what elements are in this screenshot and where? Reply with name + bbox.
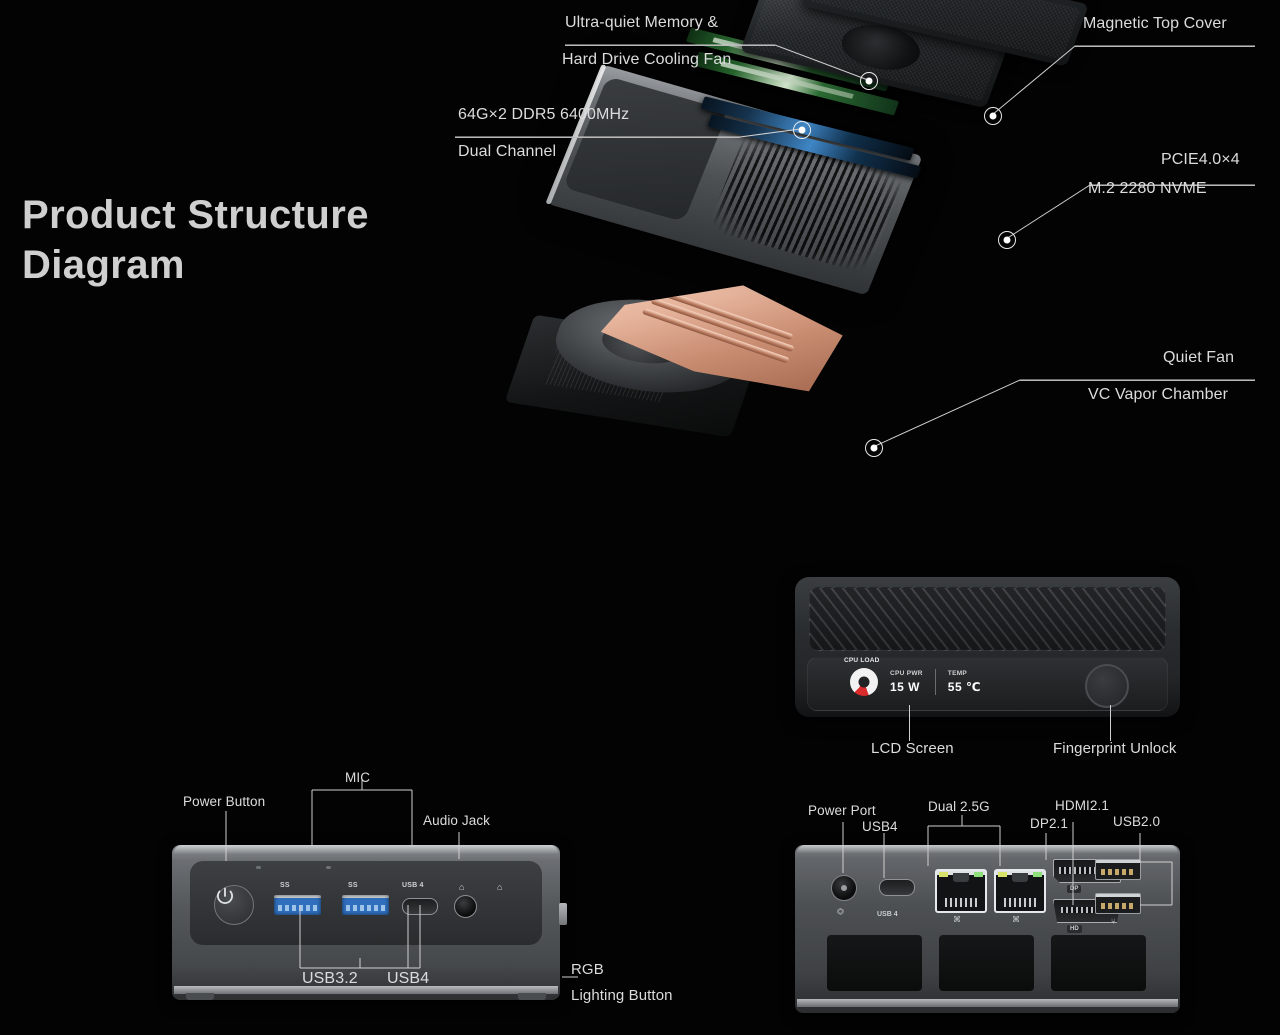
rear-vent-center: [939, 935, 1034, 991]
audio-jack-icon: ⌂: [459, 882, 465, 892]
top-unit-textured-lid: [809, 587, 1166, 651]
usb2-port-bottom[interactable]: [1095, 893, 1141, 914]
front-panel-base: [174, 986, 558, 994]
callout-label-usb32: USB3.2: [302, 970, 358, 988]
callout-label-memory-line1: 64G×2 DDR5 6400MHz: [458, 106, 629, 124]
exploded-diagram-illustration: [500, 0, 1120, 500]
power-port[interactable]: [831, 875, 857, 901]
rear-vent-right: [1051, 935, 1146, 991]
callout-label-dual-lan: Dual 2.5G: [928, 799, 990, 814]
usb32-left-mark: SS: [280, 882, 290, 889]
callout-label-storage-line1: PCIE4.0×4: [1161, 151, 1240, 169]
ethernet-port-left[interactable]: [935, 869, 987, 913]
callout-label-top-cover: Magnetic Top Cover: [1083, 15, 1227, 33]
cpu-load-label: CPU LOAD: [844, 657, 880, 664]
mic-hole-right: [326, 866, 331, 869]
cpu-power-label: CPU PWR: [890, 670, 923, 677]
callout-label-cooling-fan-line2: Hard Drive Cooling Fan: [562, 51, 731, 69]
fingerprint-reader[interactable]: [1085, 664, 1129, 708]
callout-label-memory-line2: Dual Channel: [458, 143, 556, 161]
callout-label-usb20: USB2.0: [1113, 814, 1160, 829]
top-unit-display-strip: CPU LOAD CPU PWR 15 W TEMP 55 ℃: [807, 657, 1168, 711]
power-button[interactable]: [214, 885, 254, 925]
lcd-divider: [935, 669, 936, 695]
ethernet-port-right[interactable]: [994, 869, 1046, 913]
callout-rule-cooling: [1020, 380, 1255, 381]
callout-rule-memory: [455, 137, 740, 138]
headset-icon: ⌂: [497, 882, 503, 892]
callout-label-power-button: Power Button: [183, 794, 265, 809]
callout-label-audio-jack: Audio Jack: [423, 813, 490, 828]
top-view-unit: CPU LOAD CPU PWR 15 W TEMP 55 ℃: [795, 577, 1180, 717]
front-foot-right: [518, 993, 546, 1000]
usb32-port-right[interactable]: [342, 895, 389, 915]
page-title-line2: Diagram: [22, 240, 369, 290]
lcd-screen[interactable]: CPU LOAD CPU PWR 15 W TEMP 55 ℃: [850, 668, 981, 696]
usb2-icon: ⑂: [1111, 917, 1116, 926]
temperature-label: TEMP: [948, 670, 981, 677]
callout-label-dp: DP2.1: [1030, 816, 1068, 831]
mic-hole-left: [256, 866, 261, 869]
usb4-port-front[interactable]: [402, 898, 438, 915]
callout-label-mic: MIC: [345, 770, 370, 785]
front-panel-io-recess: SS SS USB 4 ⌂ ⌂: [190, 861, 542, 945]
callout-label-usb4-front: USB4: [387, 970, 429, 988]
temperature-value: 55 ℃: [948, 680, 981, 694]
callout-label-hdmi: HDMI2.1: [1055, 798, 1109, 813]
front-foot-left: [186, 993, 214, 1000]
callout-label-usb4-rear: USB4: [862, 819, 898, 834]
callout-label-cooling-line2: VC Vapor Chamber: [1088, 386, 1228, 404]
callout-line-lcd-screen: [909, 705, 910, 741]
front-panel-top-edge: [174, 845, 558, 854]
usb32-right-mark: SS: [348, 882, 358, 889]
callout-label-cooling-fan-line1: Ultra-quiet Memory &: [565, 14, 718, 32]
callout-label-lcd-screen: LCD Screen: [871, 740, 954, 757]
callout-dot-cooling-fan: [860, 72, 878, 90]
usb2-port-top[interactable]: [1095, 859, 1141, 880]
dp-port-mark: DP: [1067, 885, 1081, 893]
callout-dot-top-cover: [984, 107, 1002, 125]
callout-label-storage-line2: M.2 2280 NVME: [1088, 180, 1207, 198]
power-icon: [215, 886, 235, 906]
usb4-rear-mark: USB 4: [877, 911, 898, 918]
callout-label-power-port: Power Port: [808, 803, 876, 818]
temperature-stat: TEMP 55 ℃: [948, 670, 981, 694]
callout-label-rgb-line2: Lighting Button: [571, 987, 673, 1004]
ethernet-right-icon: ⌘: [1012, 915, 1020, 924]
ethernet-left-icon: ⌘: [953, 915, 961, 924]
cpu-power-value: 15 W: [890, 680, 923, 694]
rear-panel-unit: ⏣ USB 4 ⌘ ⌘ DP HD ⑂: [795, 845, 1180, 1013]
rgb-lighting-button[interactable]: [559, 903, 567, 925]
callout-rule-cooling-fan: [565, 45, 775, 46]
usb4-port-rear[interactable]: [879, 879, 915, 896]
audio-jack-port[interactable]: [454, 895, 477, 918]
callout-dot-memory: [793, 121, 811, 139]
page-title: Product Structure Diagram: [22, 190, 369, 290]
power-port-icon: ⏣: [837, 907, 844, 916]
rear-panel-top-edge: [797, 845, 1178, 853]
front-panel-unit: SS SS USB 4 ⌂ ⌂: [172, 845, 560, 1000]
hdmi-port-mark: HD: [1067, 925, 1082, 933]
cpu-load-gauge-icon: [850, 668, 878, 696]
rear-panel-base: [797, 999, 1178, 1007]
callout-dot-storage: [998, 231, 1016, 249]
callout-label-rgb-line1: RGB: [571, 961, 604, 978]
page-title-line1: Product Structure: [22, 190, 369, 240]
callout-dot-cooling: [865, 439, 883, 457]
cpu-power-stat: CPU PWR 15 W: [890, 670, 923, 694]
usb4-mark: USB 4: [402, 882, 424, 889]
callout-label-fingerprint: Fingerprint Unlock: [1053, 740, 1177, 757]
usb32-port-left[interactable]: [274, 895, 321, 915]
rear-vent-left: [827, 935, 922, 991]
callout-rule-top-cover: [1075, 46, 1255, 47]
callout-line-fingerprint: [1110, 705, 1111, 741]
callout-label-cooling-line1: Quiet Fan: [1163, 349, 1234, 367]
